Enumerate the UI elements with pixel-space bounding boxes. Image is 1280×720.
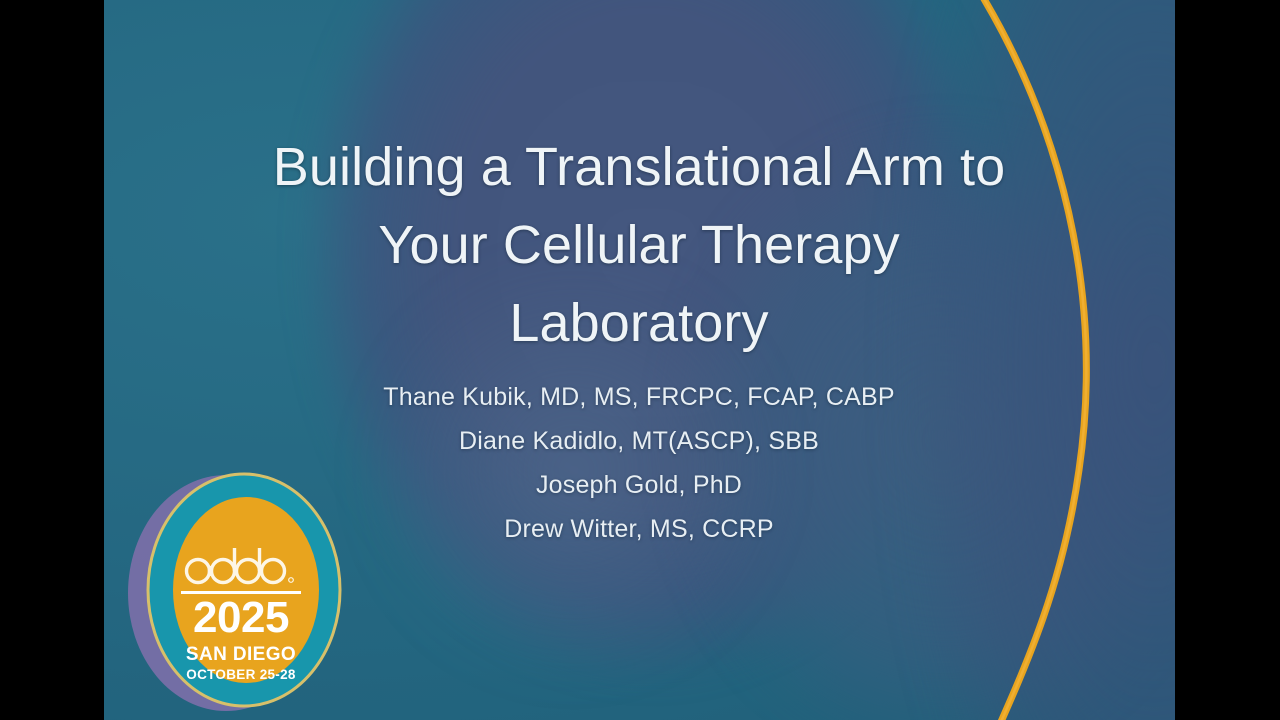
conference-badge: 2025 SAN DIEGO OCTOBER 25-28 (116, 460, 366, 720)
badge-rings-icon (116, 460, 366, 720)
presentation-title-slide: Building a Translational Arm to Your Cel… (104, 0, 1175, 720)
author-name: Diane Kadidlo, MT(ASCP), SBB (214, 419, 1064, 463)
video-player-frame: Building a Translational Arm to Your Cel… (0, 0, 1280, 720)
title-line-3: Laboratory (214, 284, 1064, 362)
letterbox-bar-right (1175, 0, 1280, 720)
title-line-2: Your Cellular Therapy (214, 206, 1064, 284)
title-line-1: Building a Translational Arm to (214, 128, 1064, 206)
page-title: Building a Translational Arm to Your Cel… (214, 128, 1064, 362)
author-name: Thane Kubik, MD, MS, FRCPC, FCAP, CABP (214, 375, 1064, 419)
letterbox-bar-left (0, 0, 104, 720)
